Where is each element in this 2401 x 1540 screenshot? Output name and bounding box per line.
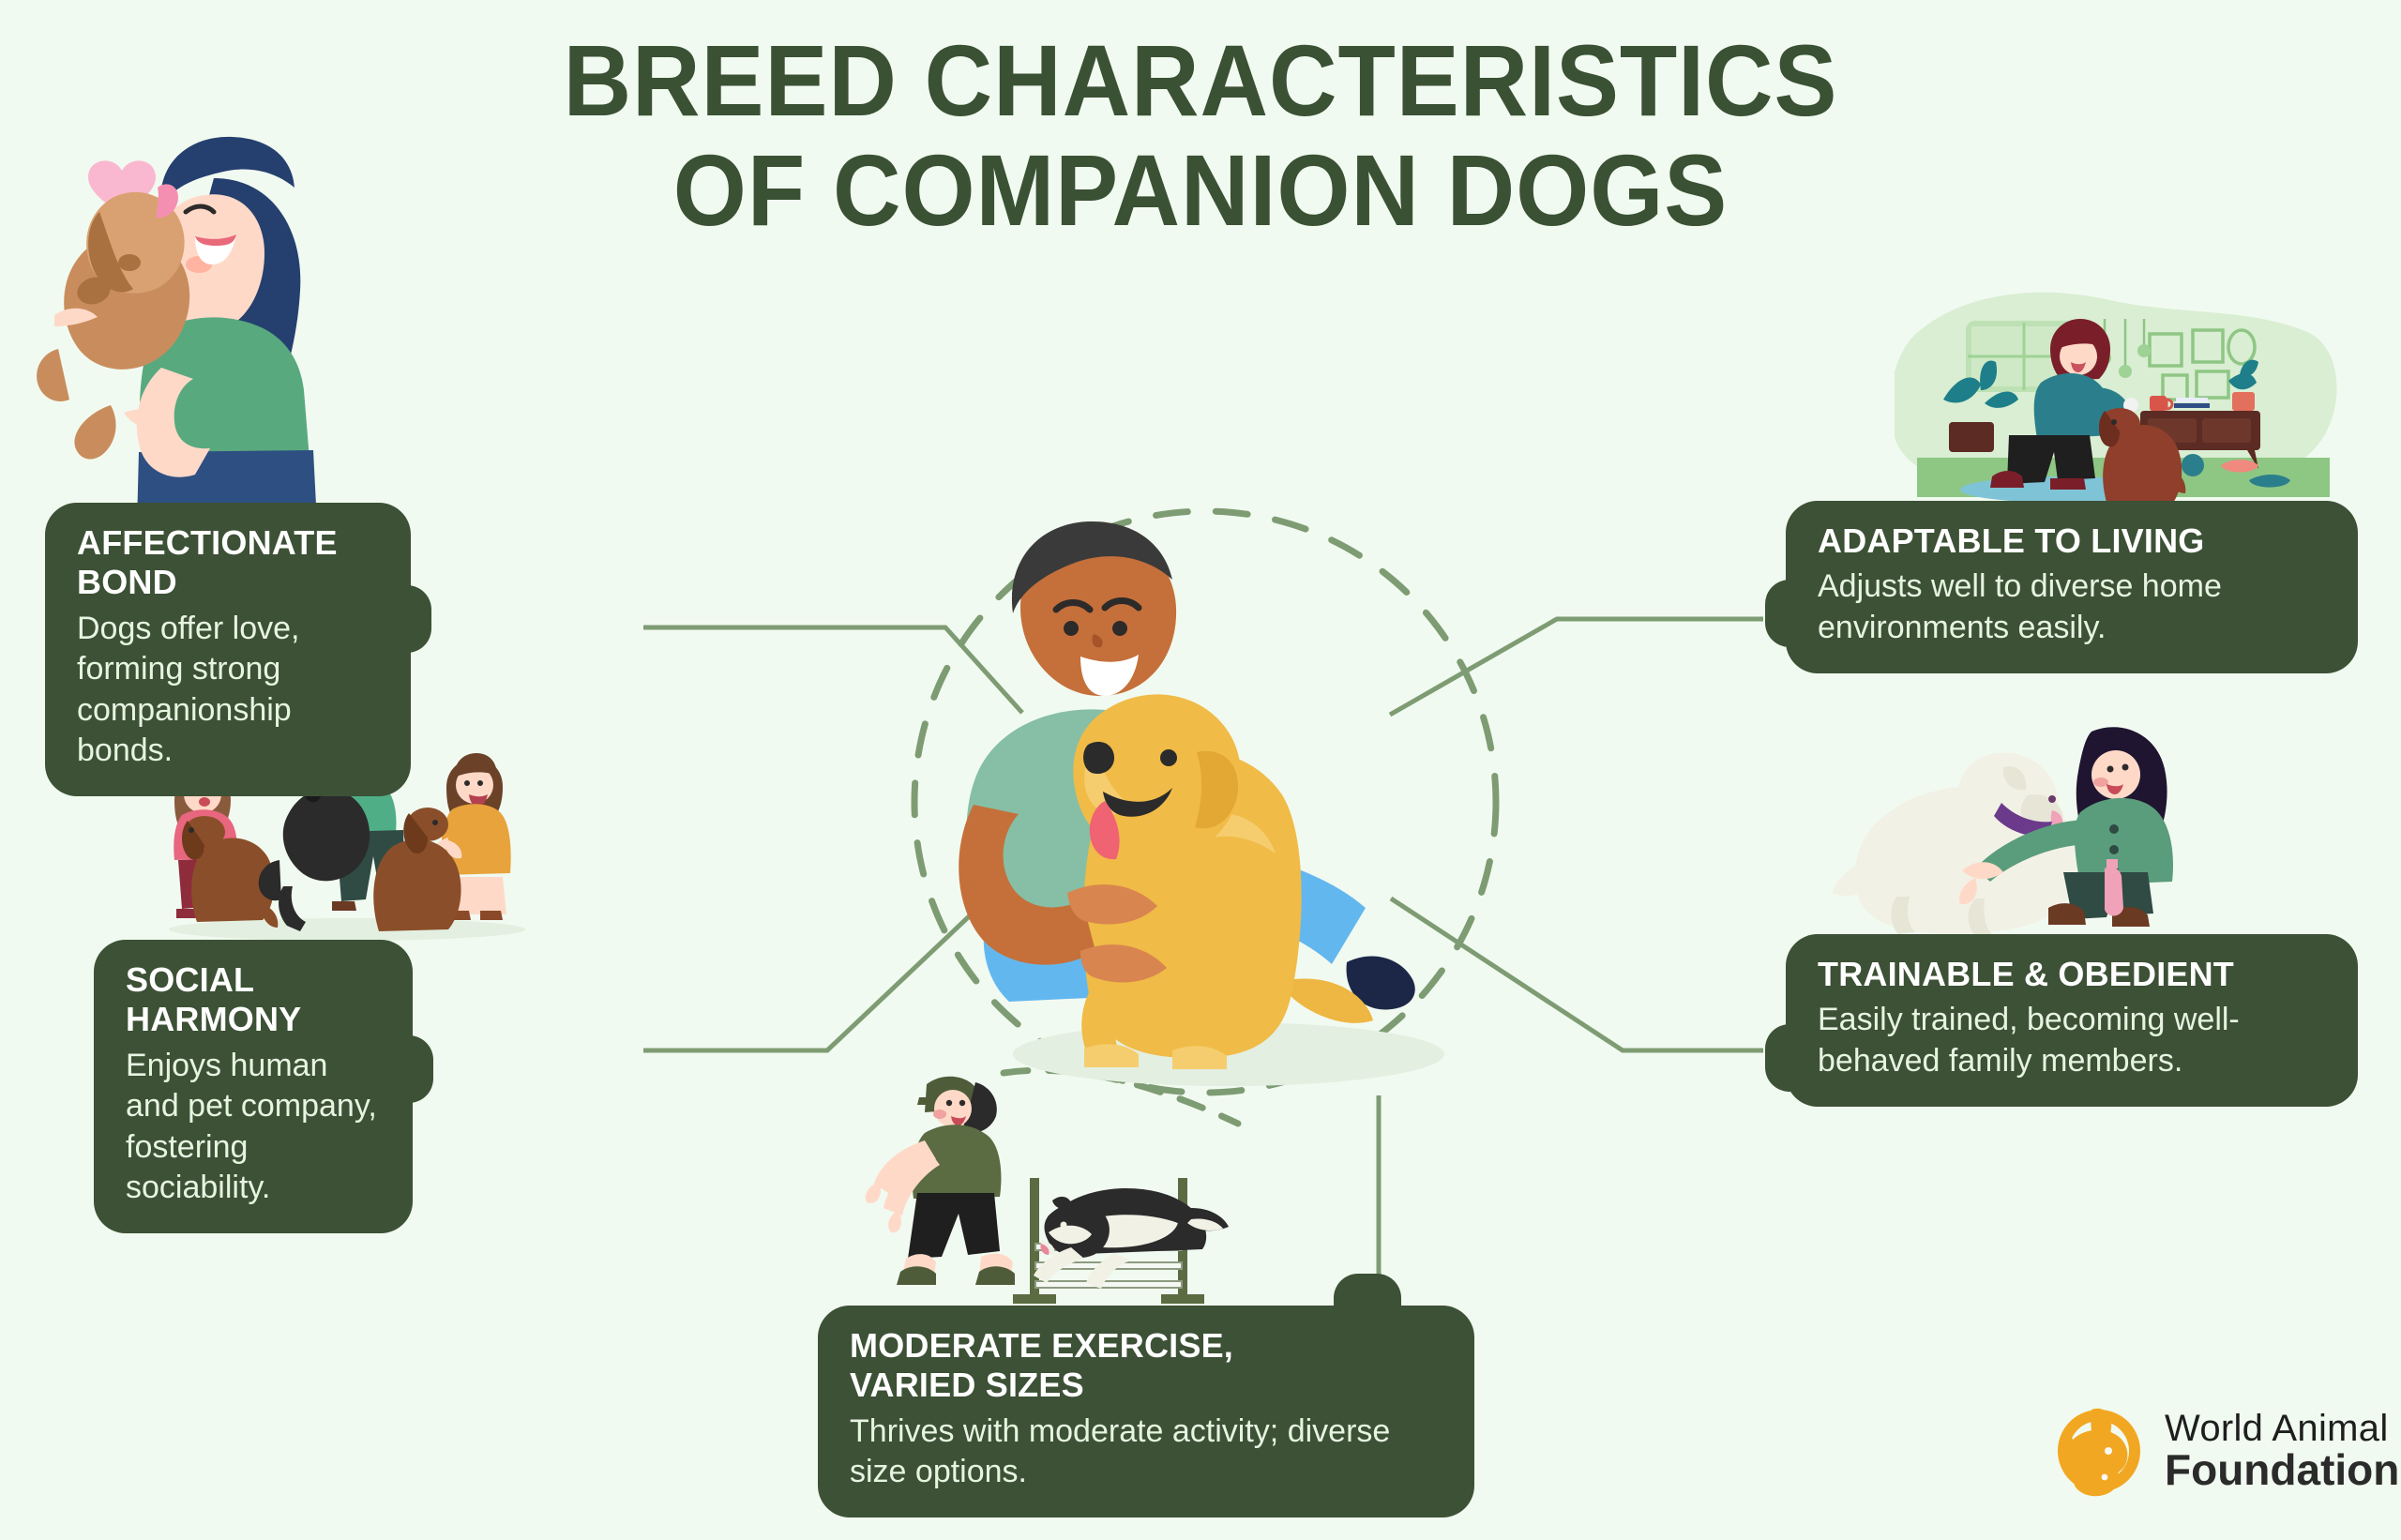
card-title: ADAPTABLE TO LIVING	[1818, 521, 2326, 561]
man-hugging-golden-retriever-illustration	[900, 506, 1557, 1107]
card-body: Dogs offer love, forming strong companio…	[77, 609, 379, 772]
connector-nub	[1765, 1024, 1808, 1092]
man-training-dog-at-home-illustration	[1895, 272, 2345, 525]
card-social-harmony[interactable]: SOCIAL HARMONY Enjoys human and pet comp…	[94, 940, 413, 1233]
card-body: Easily trained, becoming well-behaved fa…	[1818, 1000, 2326, 1081]
woman-hugging-puppy-illustration	[21, 122, 415, 525]
connector-nub	[1765, 580, 1808, 647]
woman-petting-white-dog-illustration	[1820, 713, 2232, 938]
connector-nub	[1334, 1274, 1401, 1326]
connector-nub	[390, 1035, 433, 1103]
card-adaptable-to-living[interactable]: ADAPTABLE TO LIVING Adjusts well to dive…	[1786, 501, 2358, 673]
page-title: BREED CHARACTERISTICS OF COMPANION DOGS	[84, 26, 2318, 245]
logo-animals-icon	[2050, 1402, 2148, 1500]
card-body: Thrives with moderate activity; diverse …	[850, 1412, 1442, 1493]
logo-line-1: World Animal	[2165, 1410, 2399, 1448]
card-title: AFFECTIONATE BOND	[77, 523, 379, 603]
world-animal-foundation-logo: World Animal Foundation	[2050, 1390, 2369, 1512]
card-title: TRAINABLE & OBEDIENT	[1818, 955, 2326, 994]
card-trainable-obedient[interactable]: TRAINABLE & OBEDIENT Easily trained, bec…	[1786, 934, 2358, 1107]
card-moderate-exercise[interactable]: MODERATE EXERCISE, VARIED SIZES Thrives …	[818, 1306, 1474, 1517]
card-affectionate-bond[interactable]: AFFECTIONATE BOND Dogs offer love, formi…	[45, 503, 411, 796]
connector-nub	[388, 585, 431, 653]
logo-line-2: Foundation	[2165, 1448, 2399, 1492]
card-body: Enjoys human and pet company, fostering …	[126, 1046, 381, 1209]
infographic-canvas: BREED CHARACTERISTICS OF COMPANION DOGS	[0, 0, 2401, 1540]
card-body: Adjusts well to diverse home environment…	[1818, 566, 2326, 648]
card-title: MODERATE EXERCISE, VARIED SIZES	[850, 1326, 1442, 1406]
card-title: SOCIAL HARMONY	[126, 960, 381, 1040]
